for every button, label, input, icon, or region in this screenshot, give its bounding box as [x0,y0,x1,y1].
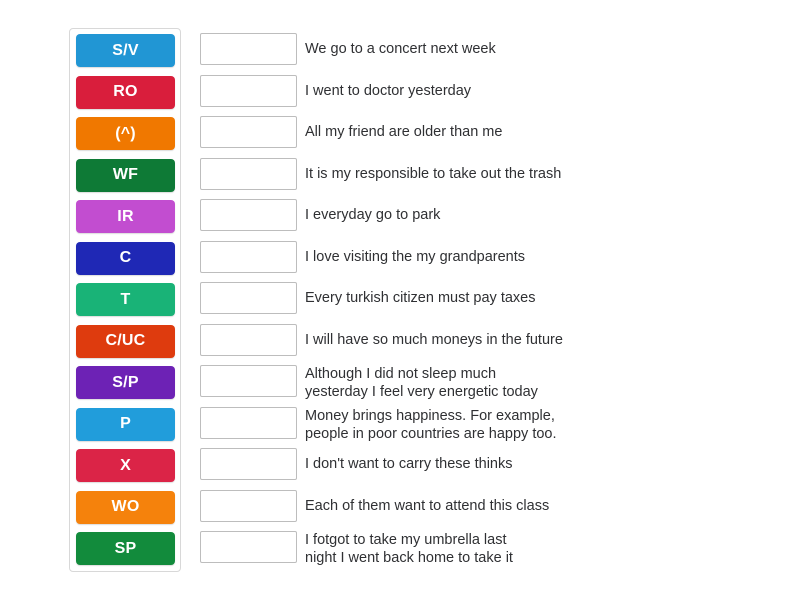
drop-box-6[interactable] [200,282,297,314]
draggable-tile-5[interactable]: C [76,242,175,275]
answer-row: Every turkish citizen must pay taxes [200,282,790,315]
sentence-text: Although I did not sleep much yesterday … [305,365,785,401]
answer-row: All my friend are older than me [200,116,790,149]
tile-label: C [120,250,132,266]
drop-box-10[interactable] [200,448,297,480]
drop-box-12[interactable] [200,531,297,563]
tile-label: IR [117,209,133,225]
draggable-tile-3[interactable]: WF [76,159,175,192]
sentence-text: I don't want to carry these thinks [305,448,785,480]
tile-label: WO [112,499,140,515]
tile-label: WF [113,167,138,183]
draggable-tile-11[interactable]: WO [76,491,175,524]
draggable-tile-2[interactable]: (^) [76,117,175,150]
answer-row: I everyday go to park [200,199,790,232]
drop-box-3[interactable] [200,158,297,190]
draggable-tile-6[interactable]: T [76,283,175,316]
sentence-text: I will have so much moneys in the future [305,324,785,356]
sentence-text: It is my responsible to take out the tra… [305,158,785,190]
tile-tray: S/VRO(^)WFIRCTC/UCS/PPXWOSP [69,28,181,572]
sentence-text: Each of them want to attend this class [305,490,785,522]
answer-row: Although I did not sleep much yesterday … [200,365,790,398]
drop-box-2[interactable] [200,116,297,148]
tile-label: T [121,292,131,308]
answer-row: I went to doctor yesterday [200,75,790,108]
draggable-tile-1[interactable]: RO [76,76,175,109]
answer-row: I love visiting the my grandparents [200,241,790,274]
tile-label: (^) [115,126,136,142]
draggable-tile-10[interactable]: X [76,449,175,482]
answer-row: Money brings happiness. For example, peo… [200,407,790,440]
drop-box-5[interactable] [200,241,297,273]
sentence-text: I went to doctor yesterday [305,75,785,107]
match-up-activity: S/VRO(^)WFIRCTC/UCS/PPXWOSP We go to a c… [0,0,800,600]
answer-row: I don't want to carry these thinks [200,448,790,481]
sentence-text: I fotgot to take my umbrella last night … [305,531,785,567]
drop-box-0[interactable] [200,33,297,65]
draggable-tile-0[interactable]: S/V [76,34,175,67]
sentence-text: All my friend are older than me [305,116,785,148]
tile-label: S/P [112,375,138,391]
answer-row: Each of them want to attend this class [200,490,790,523]
tile-label: X [120,458,131,474]
draggable-tile-12[interactable]: SP [76,532,175,565]
sentence-text: Every turkish citizen must pay taxes [305,282,785,314]
drop-box-7[interactable] [200,324,297,356]
sentence-text: We go to a concert next week [305,33,785,65]
answer-row: I fotgot to take my umbrella last night … [200,531,790,564]
answer-row: I will have so much moneys in the future [200,324,790,357]
tile-label: P [120,416,131,432]
drop-box-4[interactable] [200,199,297,231]
drop-box-8[interactable] [200,365,297,397]
answer-row: We go to a concert next week [200,33,790,66]
draggable-tile-8[interactable]: S/P [76,366,175,399]
sentence-text: I everyday go to park [305,199,785,231]
draggable-tile-4[interactable]: IR [76,200,175,233]
drop-box-1[interactable] [200,75,297,107]
drop-box-11[interactable] [200,490,297,522]
draggable-tile-7[interactable]: C/UC [76,325,175,358]
tile-label: C/UC [106,333,146,349]
tile-label: SP [115,541,137,557]
tile-label: S/V [112,43,138,59]
answer-row: It is my responsible to take out the tra… [200,158,790,191]
sentence-text: Money brings happiness. For example, peo… [305,407,785,443]
tile-label: RO [113,84,137,100]
draggable-tile-9[interactable]: P [76,408,175,441]
drop-box-9[interactable] [200,407,297,439]
sentence-text: I love visiting the my grandparents [305,241,785,273]
